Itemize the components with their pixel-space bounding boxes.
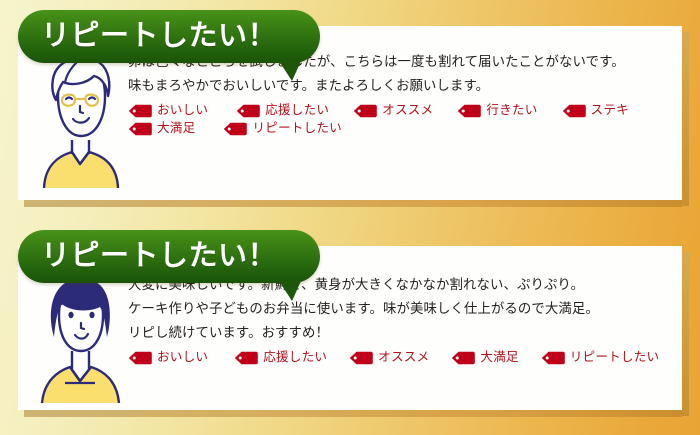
review-tag[interactable]: ステキ [562, 104, 629, 118]
review-tag[interactable]: 行きたい [457, 104, 537, 118]
review-bubble-1-label: リピートしたい！ [18, 22, 277, 51]
review-tag-label: 応援したい [265, 104, 329, 117]
review-tag-label: オススメ [382, 104, 433, 117]
review-tag-label: リピートしたい [570, 351, 660, 364]
review-tag[interactable]: おいしい [128, 104, 208, 118]
review-1-body: 卵は色々なところを試しましたが、こちらは一度も割れて届いたことがないです。 味も… [32, 48, 672, 188]
review-card-2-right-edge [682, 252, 689, 416]
price-tag-icon [353, 104, 377, 118]
review-2-text: 大変に美味しいです。新鮮で、黄身が大きくなかなか割れない、ぷりぷり。 ケーキ作り… [128, 273, 672, 345]
review-bubble-2: リピートしたい！ [18, 230, 320, 283]
price-tag-icon [128, 122, 152, 136]
person-bob-hair-avatar-icon [32, 271, 128, 403]
person-glasses-avatar-icon [32, 48, 128, 188]
review-1-content: 卵は色々なところを試しましたが、こちらは一度も割れて届いたことがないです。 味も… [128, 48, 672, 188]
review-tag-label: 大満足 [480, 351, 518, 364]
review-tag[interactable]: おいしい [128, 351, 208, 365]
tag-row: おいしい 応援したい オススメ 大満足 [128, 351, 672, 365]
review-tag[interactable]: 大満足 [451, 351, 518, 365]
review-tag-label: おいしい [157, 351, 208, 364]
price-tag-icon [128, 104, 152, 118]
price-tag-icon [234, 351, 258, 365]
review-bubble-1: リピートしたい！ [18, 10, 320, 63]
review-card-2: リピートしたい！ [18, 246, 682, 418]
review-card-1-shadow [24, 200, 682, 207]
review-bubble-2-label: リピートしたい！ [18, 242, 277, 271]
review-tag[interactable]: 大満足 [128, 122, 195, 136]
review-tag-label: オススメ [378, 351, 429, 364]
review-tag-label: 応援したい [263, 351, 327, 364]
review-card-2-shadow [24, 410, 682, 417]
price-tag-icon [451, 351, 475, 365]
review-tag-label: 大満足 [157, 122, 195, 135]
tag-row: おいしい 応援したい オススメ 行きたい [128, 104, 672, 118]
review-tag[interactable]: オススメ [353, 104, 433, 118]
review-tag[interactable]: オススメ [349, 351, 429, 365]
price-tag-icon [541, 351, 565, 365]
tag-row: 大満足 リピートしたい [128, 122, 672, 136]
price-tag-icon [562, 104, 586, 118]
review-bubble-1-tail [279, 61, 301, 81]
review-tag[interactable]: 応援したい [236, 104, 329, 118]
review-tag[interactable]: リピートしたい [541, 351, 660, 365]
review-bubble-2-tail [279, 281, 301, 301]
review-1-tag-rows: おいしい 応援したい オススメ 行きたい [128, 104, 672, 136]
price-tag-icon [223, 122, 247, 136]
review-tag[interactable]: 応援したい [234, 351, 327, 365]
price-tag-icon [236, 104, 260, 118]
reviews-page: リピートしたい！ [0, 0, 700, 435]
price-tag-icon [349, 351, 373, 365]
review-tag-label: ステキ [591, 104, 629, 117]
review-card-1-right-edge [682, 32, 689, 206]
price-tag-icon [128, 351, 152, 365]
review-tag-label: 行きたい [486, 104, 537, 117]
review-tag-label: おいしい [157, 104, 208, 117]
price-tag-icon [457, 104, 481, 118]
review-2-tag-rows: おいしい 応援したい オススメ 大満足 [128, 351, 672, 365]
review-tag[interactable]: リピートしたい [223, 122, 342, 136]
review-card-1: リピートしたい！ [18, 26, 682, 208]
review-tag-label: リピートしたい [252, 122, 342, 135]
review-2-content: 大変に美味しいです。新鮮で、黄身が大きくなかなか割れない、ぷりぷり。 ケーキ作り… [128, 271, 672, 403]
review-2-body: 大変に美味しいです。新鮮で、黄身が大きくなかなか割れない、ぷりぷり。 ケーキ作り… [32, 271, 672, 403]
